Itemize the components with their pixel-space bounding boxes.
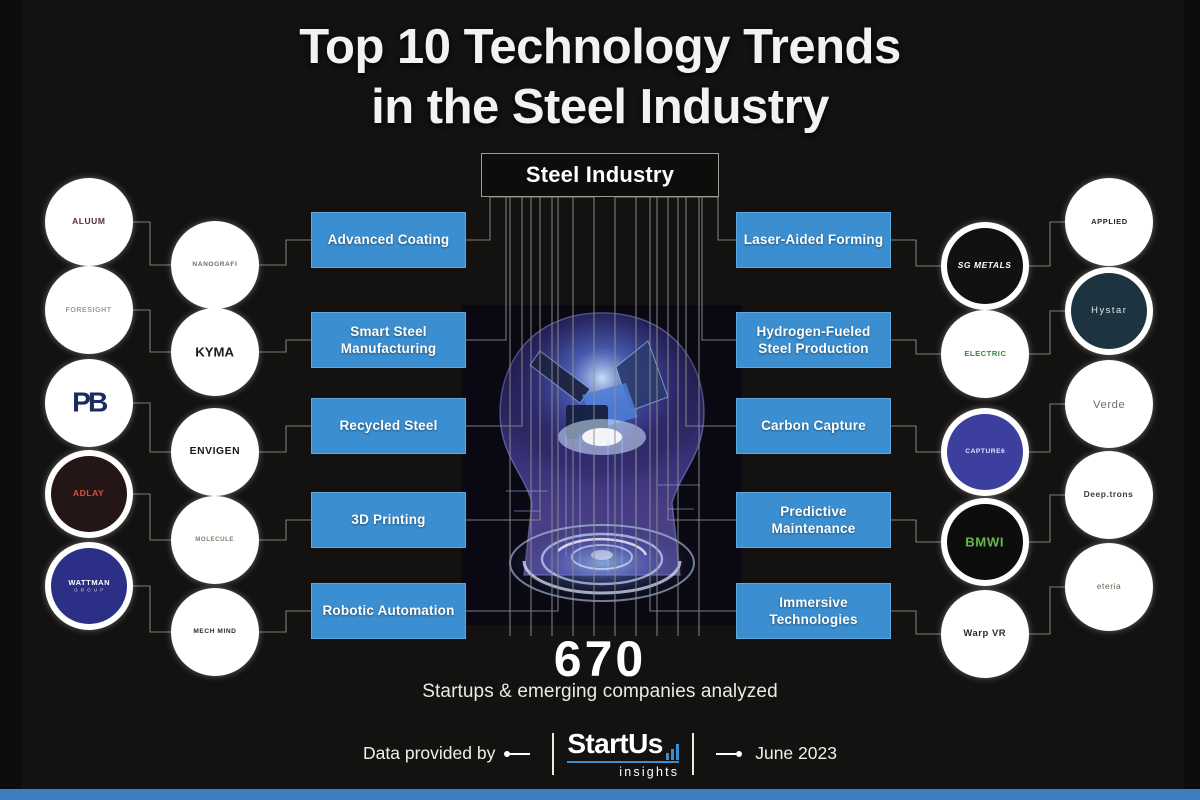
logo-label: Verde bbox=[1093, 398, 1125, 410]
logo-inner: KYMA bbox=[177, 314, 253, 390]
logo-inner: BMWI bbox=[947, 504, 1023, 580]
connector-dot bbox=[736, 751, 742, 757]
trend-box-advanced-coating[interactable]: Advanced Coating bbox=[311, 212, 466, 268]
logo-bubble-envigen[interactable]: ENVIGEN bbox=[171, 408, 259, 496]
infographic-poster: Top 10 Technology Trends in the Steel In… bbox=[0, 0, 1200, 800]
logo-inner: NANOGRAFI bbox=[177, 227, 253, 303]
logo-inner: MOLECULE bbox=[177, 502, 253, 578]
logo-label: FORESIGHT bbox=[66, 306, 112, 313]
logo-inner: PB bbox=[51, 365, 127, 441]
logo-bubble-bmwi[interactable]: BMWI bbox=[941, 498, 1029, 586]
logo-label: Deep.trons bbox=[1084, 491, 1134, 500]
logo-bubble-adlay[interactable]: ADLAY bbox=[45, 450, 133, 538]
logo-label: Hystar bbox=[1091, 306, 1127, 316]
logo-bubble-applied[interactable]: APPLIED bbox=[1065, 178, 1153, 266]
hub-label: Steel Industry bbox=[526, 162, 674, 188]
divider-left bbox=[552, 733, 554, 775]
startup-count-caption: Startups & emerging companies analyzed bbox=[0, 681, 1200, 703]
credit-row: Data provided by StartUs insights June 2… bbox=[0, 728, 1200, 779]
logo-bubble-sg-metals[interactable]: SG METALS bbox=[941, 222, 1029, 310]
logo-inner: Verde bbox=[1071, 366, 1147, 442]
logo-inner: ELECTRIC bbox=[947, 316, 1023, 392]
trend-label: Recycled Steel bbox=[339, 417, 437, 434]
logo-label: CAPTURE6 bbox=[965, 449, 1005, 456]
logo-label: MOLECULE bbox=[196, 537, 235, 543]
logo-bubble-aluum[interactable]: ALUUM bbox=[45, 178, 133, 266]
connector-bar bbox=[716, 753, 736, 755]
logo-bubble-wattman[interactable]: WATTMANG R O U P bbox=[45, 542, 133, 630]
logo-label: ALUUM bbox=[72, 218, 105, 227]
logo-label: ELECTRIC bbox=[964, 350, 1006, 358]
trend-box-carbon-capture[interactable]: Carbon Capture bbox=[736, 398, 891, 454]
logo-label: PB bbox=[72, 388, 106, 418]
trend-box-recycled-steel[interactable]: Recycled Steel bbox=[311, 398, 466, 454]
logo-label: ADLAY bbox=[73, 490, 104, 499]
logo-inner: ALUUM bbox=[51, 184, 127, 260]
startup-count: 670 bbox=[0, 630, 1200, 688]
logo-bubble-eteria[interactable]: eteria bbox=[1065, 543, 1153, 631]
brand-logo-startus-insights[interactable]: StartUs insights bbox=[567, 728, 679, 779]
logo-sublabel: G R O U P bbox=[68, 588, 110, 593]
logo-inner: WATTMANG R O U P bbox=[51, 548, 127, 624]
logo-inner: ADLAY bbox=[51, 456, 127, 532]
brand-tagline: insights bbox=[619, 765, 679, 779]
trend-box-predictive-maintenance[interactable]: Predictive Maintenance bbox=[736, 492, 891, 548]
logo-bubble-nanografi[interactable]: NANOGRAFI bbox=[171, 221, 259, 309]
logo-bubble-hystar[interactable]: Hystar bbox=[1065, 267, 1153, 355]
data-provided-by-label: Data provided by bbox=[363, 743, 495, 764]
trend-box-smart-steel-manufacturing[interactable]: Smart Steel Manufacturing bbox=[311, 312, 466, 368]
logo-bubble-foresight[interactable]: FORESIGHT bbox=[45, 266, 133, 354]
logo-label: WATTMANG R O U P bbox=[68, 579, 110, 593]
trend-label: Smart Steel Manufacturing bbox=[318, 323, 459, 358]
brand-name: StartUs bbox=[567, 728, 662, 760]
trend-box-hydrogen-fueled-steel-production[interactable]: Hydrogen-Fueled Steel Production bbox=[736, 312, 891, 368]
trend-box-laser-aided-forming[interactable]: Laser-Aided Forming bbox=[736, 212, 891, 268]
brand-name-row: StartUs bbox=[567, 728, 679, 763]
logo-label: eteria bbox=[1097, 583, 1122, 592]
brand-bar-chart-icon bbox=[666, 743, 680, 760]
logo-label: BMWI bbox=[966, 535, 1005, 549]
logo-bubble-pb[interactable]: PB bbox=[45, 359, 133, 447]
connector-bar bbox=[510, 753, 530, 755]
logo-inner: ENVIGEN bbox=[177, 414, 253, 490]
divider-right bbox=[692, 733, 694, 775]
trend-box-3d-printing[interactable]: 3D Printing bbox=[311, 492, 466, 548]
hub-node-steel-industry: Steel Industry bbox=[481, 153, 719, 197]
logo-bubble-electric[interactable]: ELECTRIC bbox=[941, 310, 1029, 398]
trend-label: Predictive Maintenance bbox=[743, 503, 884, 538]
logo-bubble-verde[interactable]: Verde bbox=[1065, 360, 1153, 448]
logo-bubble-capture6[interactable]: CAPTURE6 bbox=[941, 408, 1029, 496]
publication-date: June 2023 bbox=[755, 743, 837, 764]
logo-inner: SG METALS bbox=[947, 228, 1023, 304]
logo-inner: CAPTURE6 bbox=[947, 414, 1023, 490]
trend-label: Hydrogen-Fueled Steel Production bbox=[743, 323, 884, 358]
logo-inner: Deep.trons bbox=[1071, 457, 1147, 533]
logo-label: NANOGRAFI bbox=[193, 262, 238, 269]
trend-label: Laser-Aided Forming bbox=[744, 231, 884, 248]
logo-inner: eteria bbox=[1071, 549, 1147, 625]
logo-label: ENVIGEN bbox=[190, 447, 240, 458]
trend-label: Carbon Capture bbox=[761, 417, 866, 434]
trend-label: Robotic Automation bbox=[322, 602, 454, 619]
logo-label: APPLIED bbox=[1091, 218, 1128, 226]
logo-bubble-deeptrons[interactable]: Deep.trons bbox=[1065, 451, 1153, 539]
logo-inner: Hystar bbox=[1071, 273, 1147, 349]
logo-label: SG METALS bbox=[958, 262, 1012, 271]
trend-label: 3D Printing bbox=[351, 511, 425, 528]
logo-inner: FORESIGHT bbox=[51, 272, 127, 348]
trend-label: Immersive Technologies bbox=[743, 594, 884, 629]
left-connector-mark bbox=[504, 751, 530, 757]
logo-label: KYMA bbox=[196, 345, 235, 359]
trend-label: Advanced Coating bbox=[328, 231, 450, 248]
logo-bubble-kyma[interactable]: KYMA bbox=[171, 308, 259, 396]
logo-inner: APPLIED bbox=[1071, 184, 1147, 260]
logo-bubble-molecule[interactable]: MOLECULE bbox=[171, 496, 259, 584]
right-connector-mark bbox=[716, 751, 742, 757]
